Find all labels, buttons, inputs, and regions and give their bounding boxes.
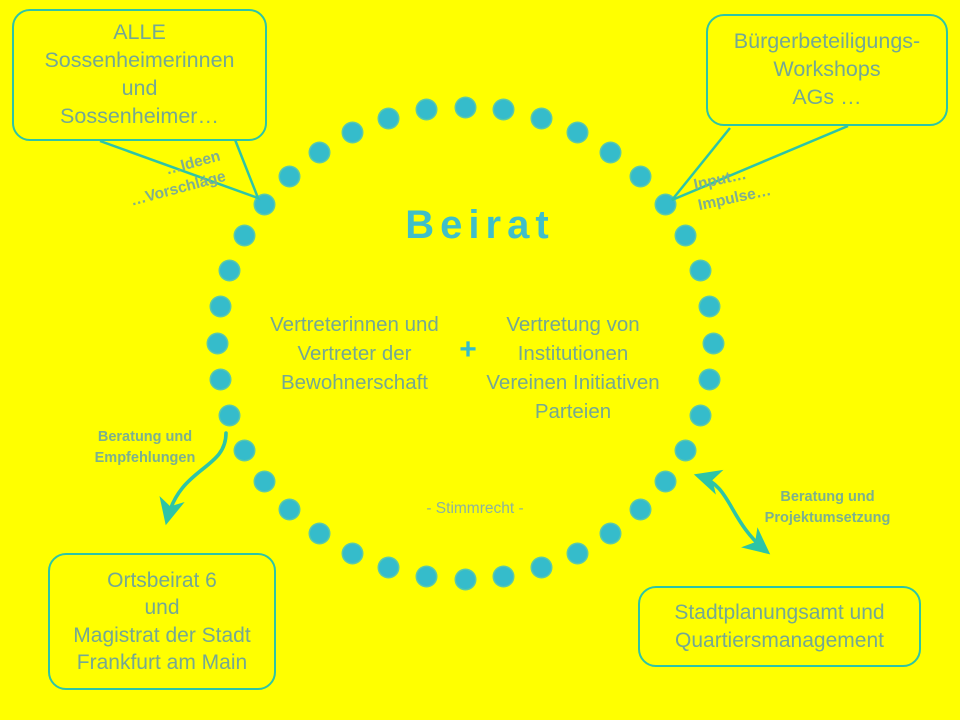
circle-dot [310,524,329,543]
circle-dot [601,143,620,162]
circle-dot [656,472,675,491]
column-line: Vertreterinnen [270,313,399,336]
box-line: und [144,594,179,621]
bubble-line: Workshops [773,56,880,84]
circle-dot [631,167,650,186]
bubble-line: Bürgerbeteiligungs- [734,28,920,56]
label-line: Empfehlungen [75,448,215,469]
circle-dot [235,441,254,460]
circle-dot [494,567,513,586]
column-line: Bewohnerschaft [281,371,428,394]
buergerbeteiligung-bubble[interactable]: Bürgerbeteiligungs- Workshops AGs … [706,14,948,126]
page-title: Beirat [0,203,960,248]
ortsbeirat-box[interactable]: Ortsbeirat 6 und Magistrat der Stadt Fra… [48,553,276,690]
plus-icon: + [448,333,488,367]
box-line: Magistrat der Stadt [73,622,250,649]
circle-dot [211,370,230,389]
circle-dot [211,297,230,316]
circle-dot [691,406,710,425]
circle-dot [208,334,227,353]
label-line: Beratung und [745,487,910,508]
column-line: der [382,342,412,365]
bubble-line: AGs … [792,84,861,112]
circle-dot [255,472,274,491]
circle-dot [700,370,719,389]
circle-dot [532,109,551,128]
column-line: Parteien [535,400,611,423]
alle-sossenheimer-bubble[interactable]: ALLE Sossenheimerinnen und Sossenheimer… [12,9,267,141]
box-line: Frankfurt am Main [77,649,247,676]
label-line: Projektumsetzung [745,508,910,529]
circle-dot [676,441,695,460]
circle-dot [343,123,362,142]
box-line: Ortsbeirat 6 [107,567,217,594]
label-line: Beratung und [75,427,215,448]
box-line: Stadtplanungsamt und [674,599,884,626]
circle-dot [379,558,398,577]
circle-dot [532,558,551,577]
circle-dot [456,570,475,589]
circle-dot [417,567,436,586]
column-line: Initiativen [573,371,660,394]
circle-dot [568,123,587,142]
circle-dot [601,524,620,543]
institutionen-column: Vertretung von Institutionen Vereinen In… [485,310,661,426]
label-beratung-projektumsetzung: Beratung und Projektumsetzung [745,487,910,529]
circle-dot [310,143,329,162]
stadtplanungsamt-box[interactable]: Stadtplanungsamt und Quartiersmanagement [638,586,921,667]
bubble-line: Sossenheimer… [60,103,219,131]
bubble-line: ALLE [113,19,166,47]
bubble-line: und [122,75,158,103]
column-line: Vereinen [486,371,567,394]
circle-dot [280,500,299,519]
vertreterinnen-column: Vertreterinnen und Vertreter der Bewohne… [262,310,447,397]
column-line: von [607,313,640,336]
circle-dot [700,297,719,316]
stimmrecht-note: - Stimmrecht - [350,500,600,518]
diagram-canvas: Beirat + Vertreterinnen und Vertreter de… [0,0,960,720]
circle-dot [691,261,710,280]
box-line: Quartiersmanagement [675,627,884,654]
column-line: Vertretung [506,313,601,336]
circle-dot [704,334,723,353]
bubble-line: Sossenheimerinnen [44,47,234,75]
circle-dot [220,406,239,425]
label-beratung-empfehlungen: Beratung und Empfehlungen [75,427,215,469]
circle-dot [417,100,436,119]
circle-dot [379,109,398,128]
circle-dot [220,261,239,280]
circle-dot [631,500,650,519]
column-line: Institutionen [518,342,629,365]
circle-dot [343,544,362,563]
circle-dot [494,100,513,119]
circle-dot [280,167,299,186]
circle-dot [568,544,587,563]
circle-dot [456,98,475,117]
